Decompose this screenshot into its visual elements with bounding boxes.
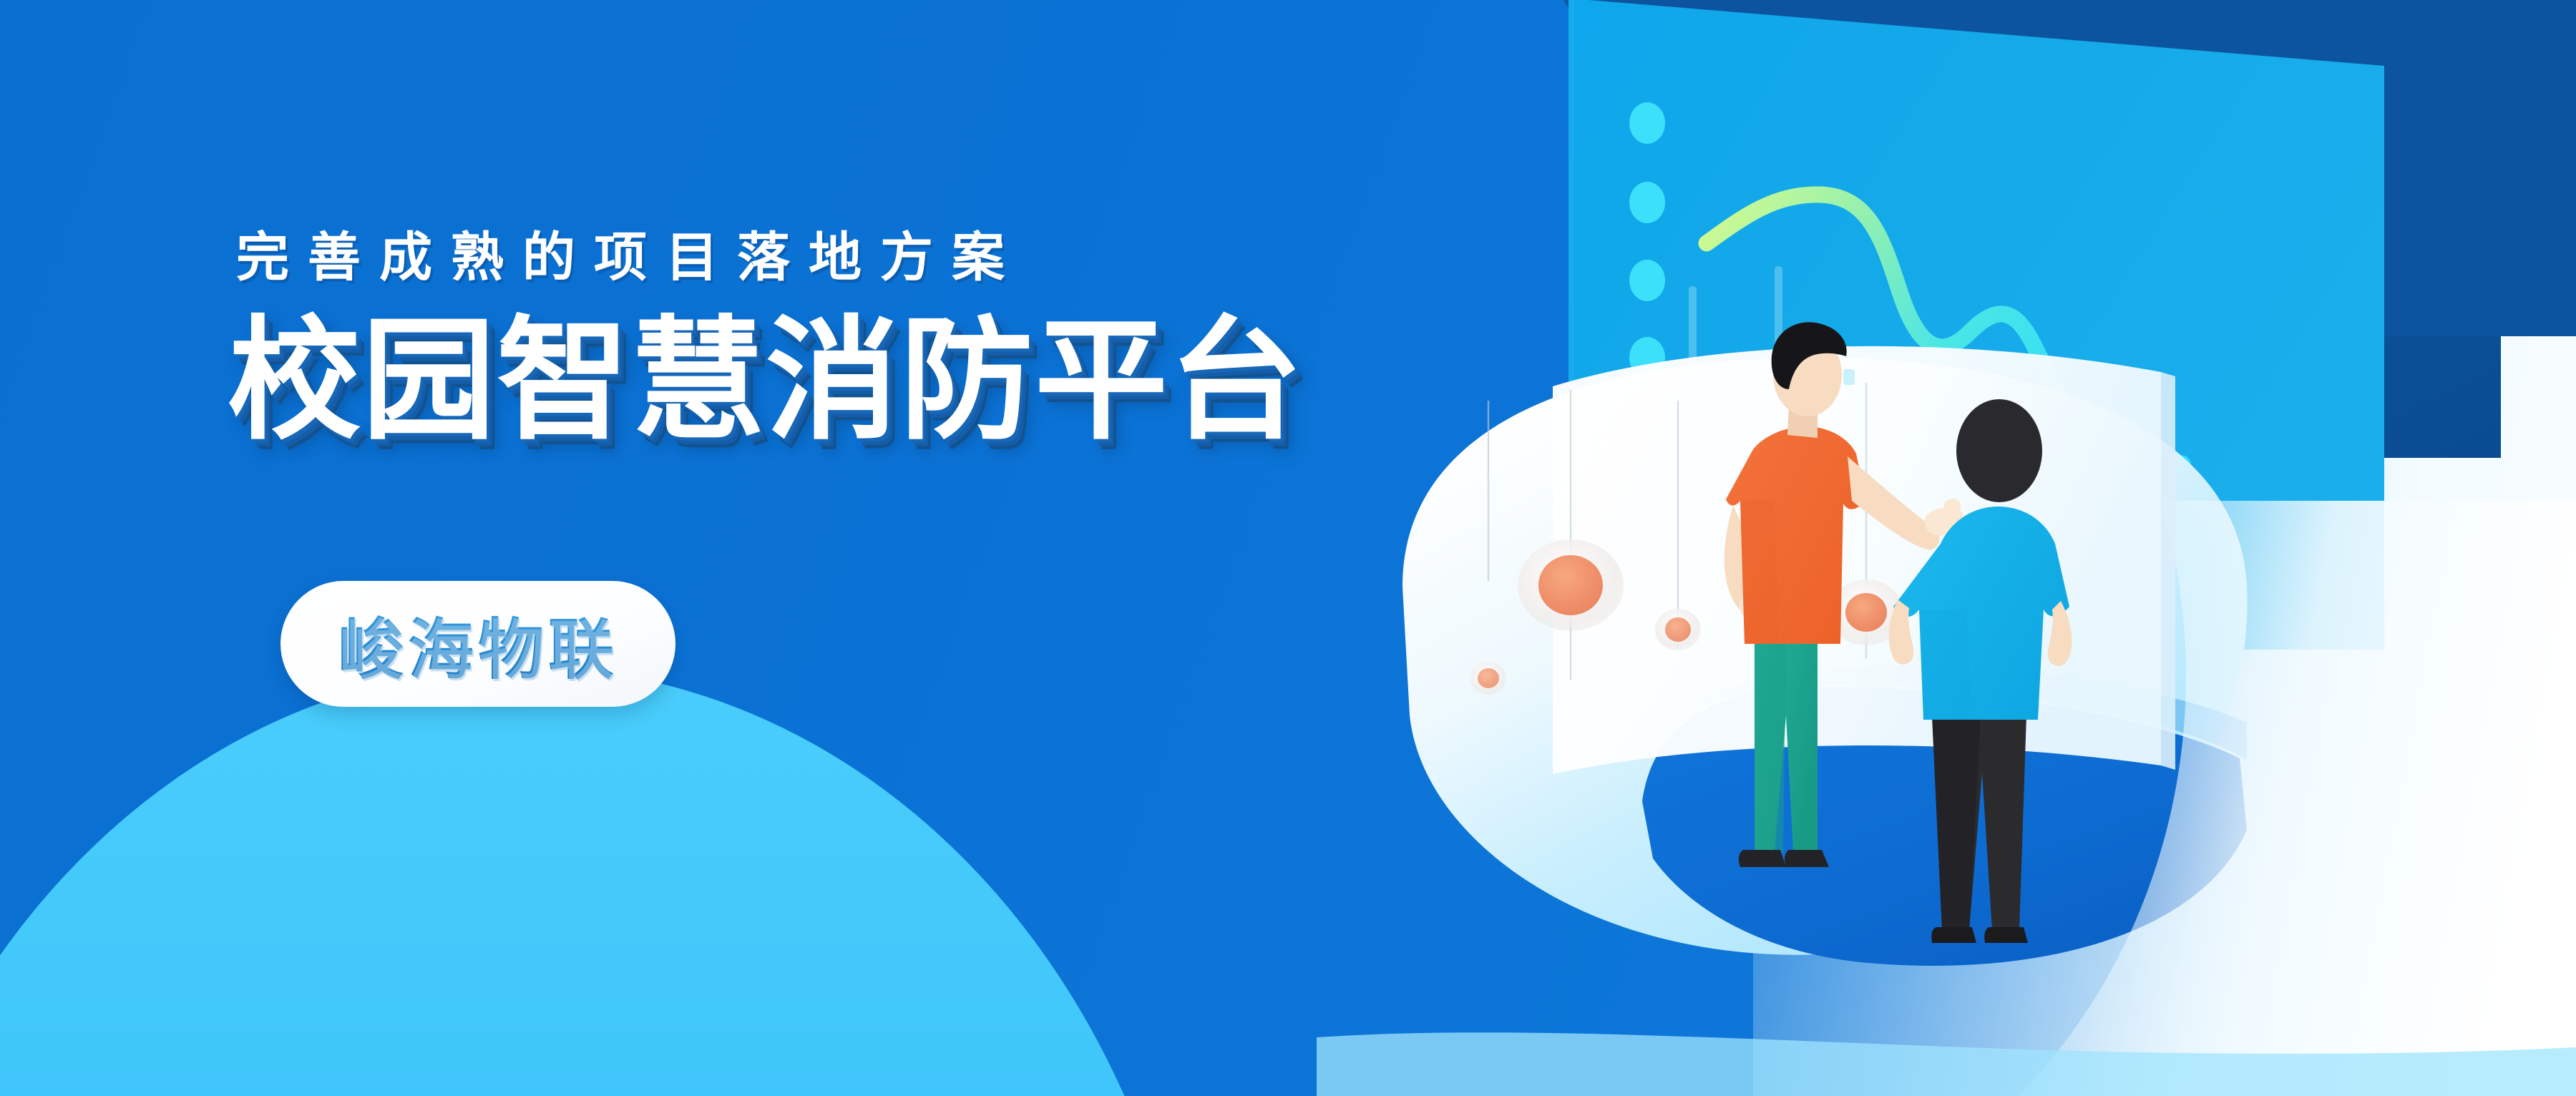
curved-white-display <box>1553 346 2175 774</box>
smoke-sensor-tiny <box>1470 662 1506 695</box>
illustration <box>1317 0 2576 1096</box>
brand-badge-label: 峻海物联 <box>338 597 618 692</box>
smoke-sensor-large <box>1518 539 1624 631</box>
banner-title: 校园智慧消防平台 <box>228 315 1304 448</box>
headline-block: 完善成熟的项目落地方案 校园智慧消防平台 峻海物联 <box>0 0 1216 1096</box>
banner-subtitle: 完善成熟的项目落地方案 <box>236 215 1023 291</box>
panel-micro-icon <box>1843 369 1855 385</box>
smoke-sensor-small <box>1655 609 1701 650</box>
brand-badge[interactable]: 峻海物联 <box>280 581 675 707</box>
promo-banner: 完善成熟的项目落地方案 校园智慧消防平台 峻海物联 <box>0 0 2576 1096</box>
